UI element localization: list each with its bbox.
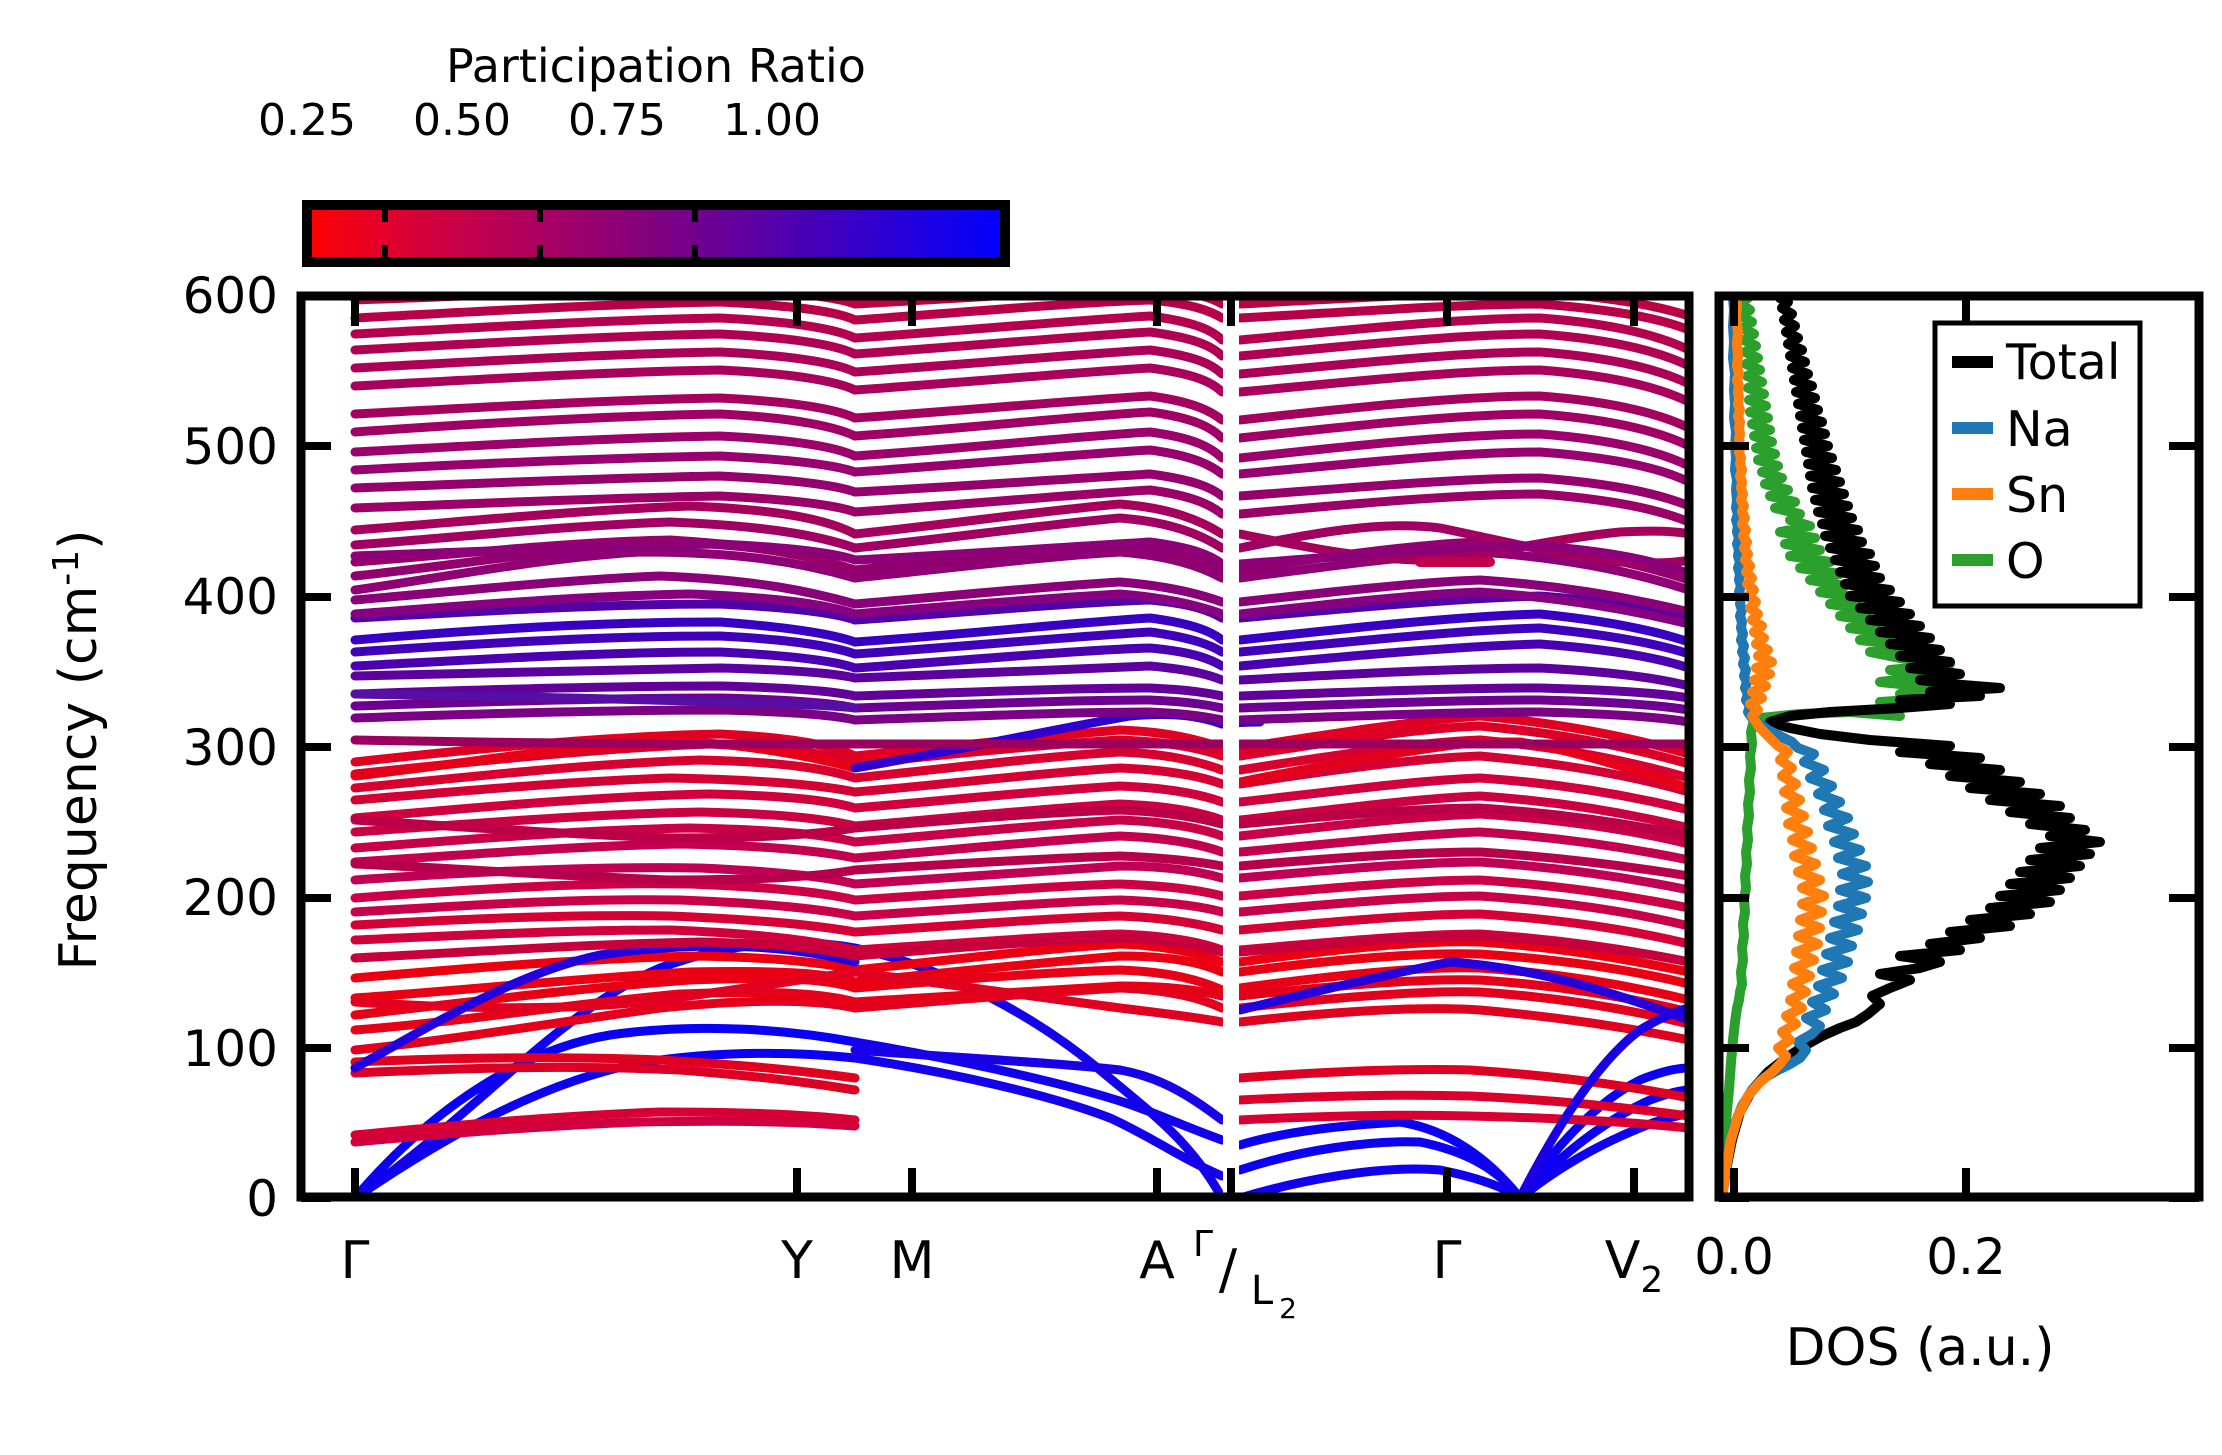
dos-xtick-1: 0.2 [1926,1228,2006,1286]
colorbar-tick-label-1: 0.50 [413,95,511,146]
legend-label-o: O [2006,533,2045,590]
svg-text:Frequency (cm-1): Frequency (cm-1) [46,530,109,971]
dos-legend: Total Na Sn O [1935,323,2140,606]
dos-x-axis-label: DOS (a.u.) [1786,1318,2055,1378]
xtick-label-V2-base: V [1605,1231,1641,1291]
path-break-gap [1223,296,1239,1197]
xtick-label-gamma-1: Γ [341,1231,370,1291]
band-ytick-0: 0 [246,1170,278,1228]
band-ytick-500: 500 [183,418,278,476]
colorbar-tick-label-0: 0.25 [258,95,356,146]
y-axis-label-exponent: -1 [46,550,87,586]
band-ytick-100: 100 [183,1020,278,1078]
xtick-label-gamma-2: Γ [1433,1231,1462,1291]
xtick-slash: / [1219,1238,1238,1301]
y-axis-label: Frequency (cm [49,586,109,971]
colorbar-title: Participation Ratio [446,39,866,93]
figure-canvas: Participation Ratio 0.25 0.50 0.75 1.00 … [0,0,2222,1455]
xtick-L-denominator: L [1251,1268,1274,1314]
xtick-label-Y: Y [780,1231,813,1291]
legend-label-na: Na [2006,401,2073,458]
colorbar-tick-label-2: 0.75 [568,95,666,146]
band-ytick-200: 200 [183,869,278,927]
y-axis-label-tail: ) [49,530,109,550]
xtick-gamma-numerator: Γ [1193,1224,1213,1265]
xtick-label-M: M [890,1231,935,1291]
band-ytick-300: 300 [183,719,278,777]
xtick-label-A: A [1139,1231,1175,1291]
band-ytick-400: 400 [183,568,278,626]
band-ytick-600: 600 [183,267,278,325]
legend-label-total: Total [2005,334,2120,391]
colorbar-gradient [307,205,1005,262]
colorbar-tick-label-3: 1.00 [723,95,821,146]
y-axis-label-group: Frequency (cm-1) [46,530,109,971]
xtick-L-subscript: 2 [1279,1292,1297,1325]
dos-xtick-0: 0.0 [1694,1228,1774,1286]
xtick-label-V2-sub: 2 [1640,1260,1663,1301]
legend-label-sn: Sn [2006,467,2068,524]
